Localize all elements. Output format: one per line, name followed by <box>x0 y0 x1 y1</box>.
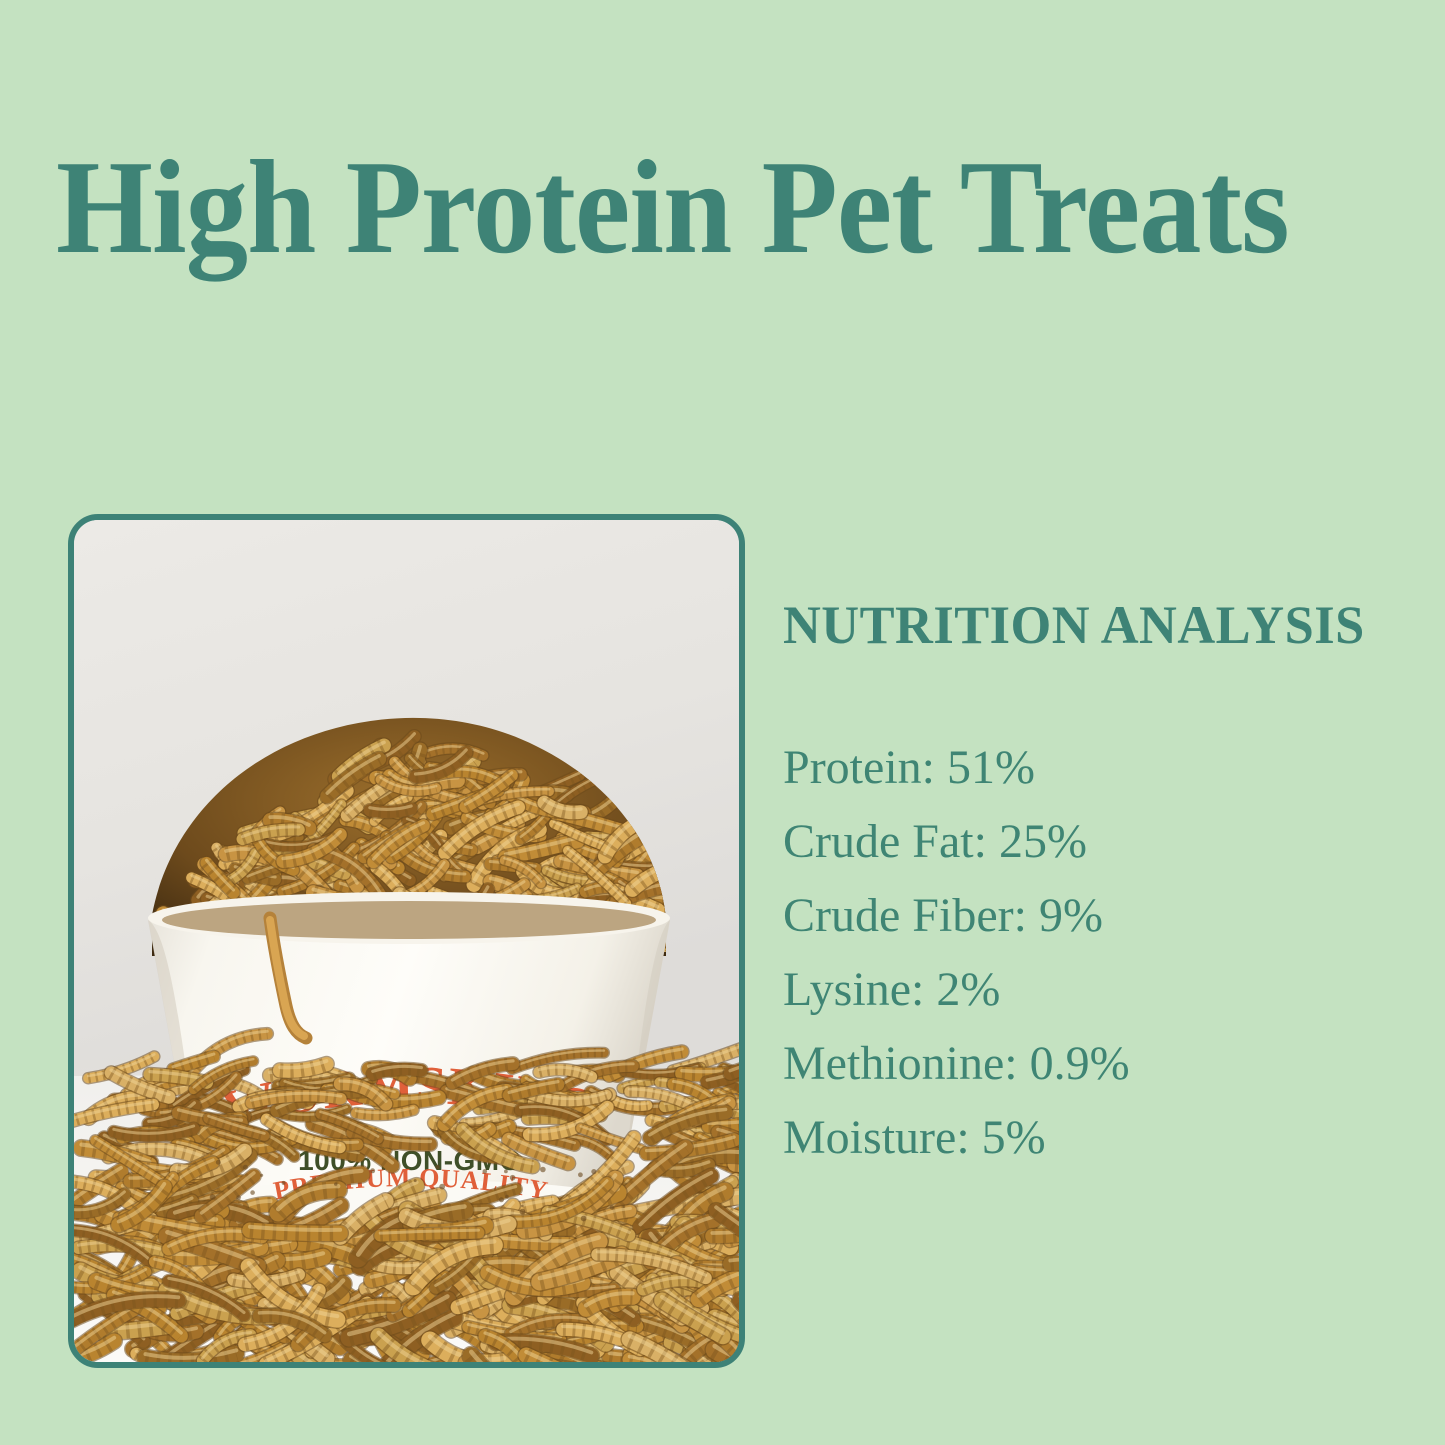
nutrition-heading: NUTRITION ANALYSIS <box>783 598 1404 652</box>
nutrition-row: Crude Fat: 25% <box>783 818 1423 866</box>
nutrition-row: Methionine: 0.9% <box>783 1040 1423 1088</box>
nutrition-row: Lysine: 2% <box>783 966 1423 1014</box>
scattered-mealworms <box>74 1031 739 1362</box>
nutrition-row: Moisture: 5% <box>783 1114 1423 1162</box>
nutrition-rows: Protein: 51%Crude Fat: 25%Crude Fiber: 9… <box>783 744 1423 1162</box>
page-title: High Protein Pet Treats <box>56 140 1312 274</box>
product-photo-frame: WORMSKING 100% NON-GMO PREMIUM QUALITY <box>68 514 745 1368</box>
nutrition-row: Protein: 51% <box>783 744 1423 792</box>
bowl-of-dried-mealworms-photo: WORMSKING 100% NON-GMO PREMIUM QUALITY <box>74 520 739 1362</box>
nutrition-row: Crude Fiber: 9% <box>783 892 1423 940</box>
product-infographic: High Protein Pet Treats <box>0 0 1445 1445</box>
nutrition-panel: NUTRITION ANALYSIS Protein: 51%Crude Fat… <box>783 598 1423 1162</box>
